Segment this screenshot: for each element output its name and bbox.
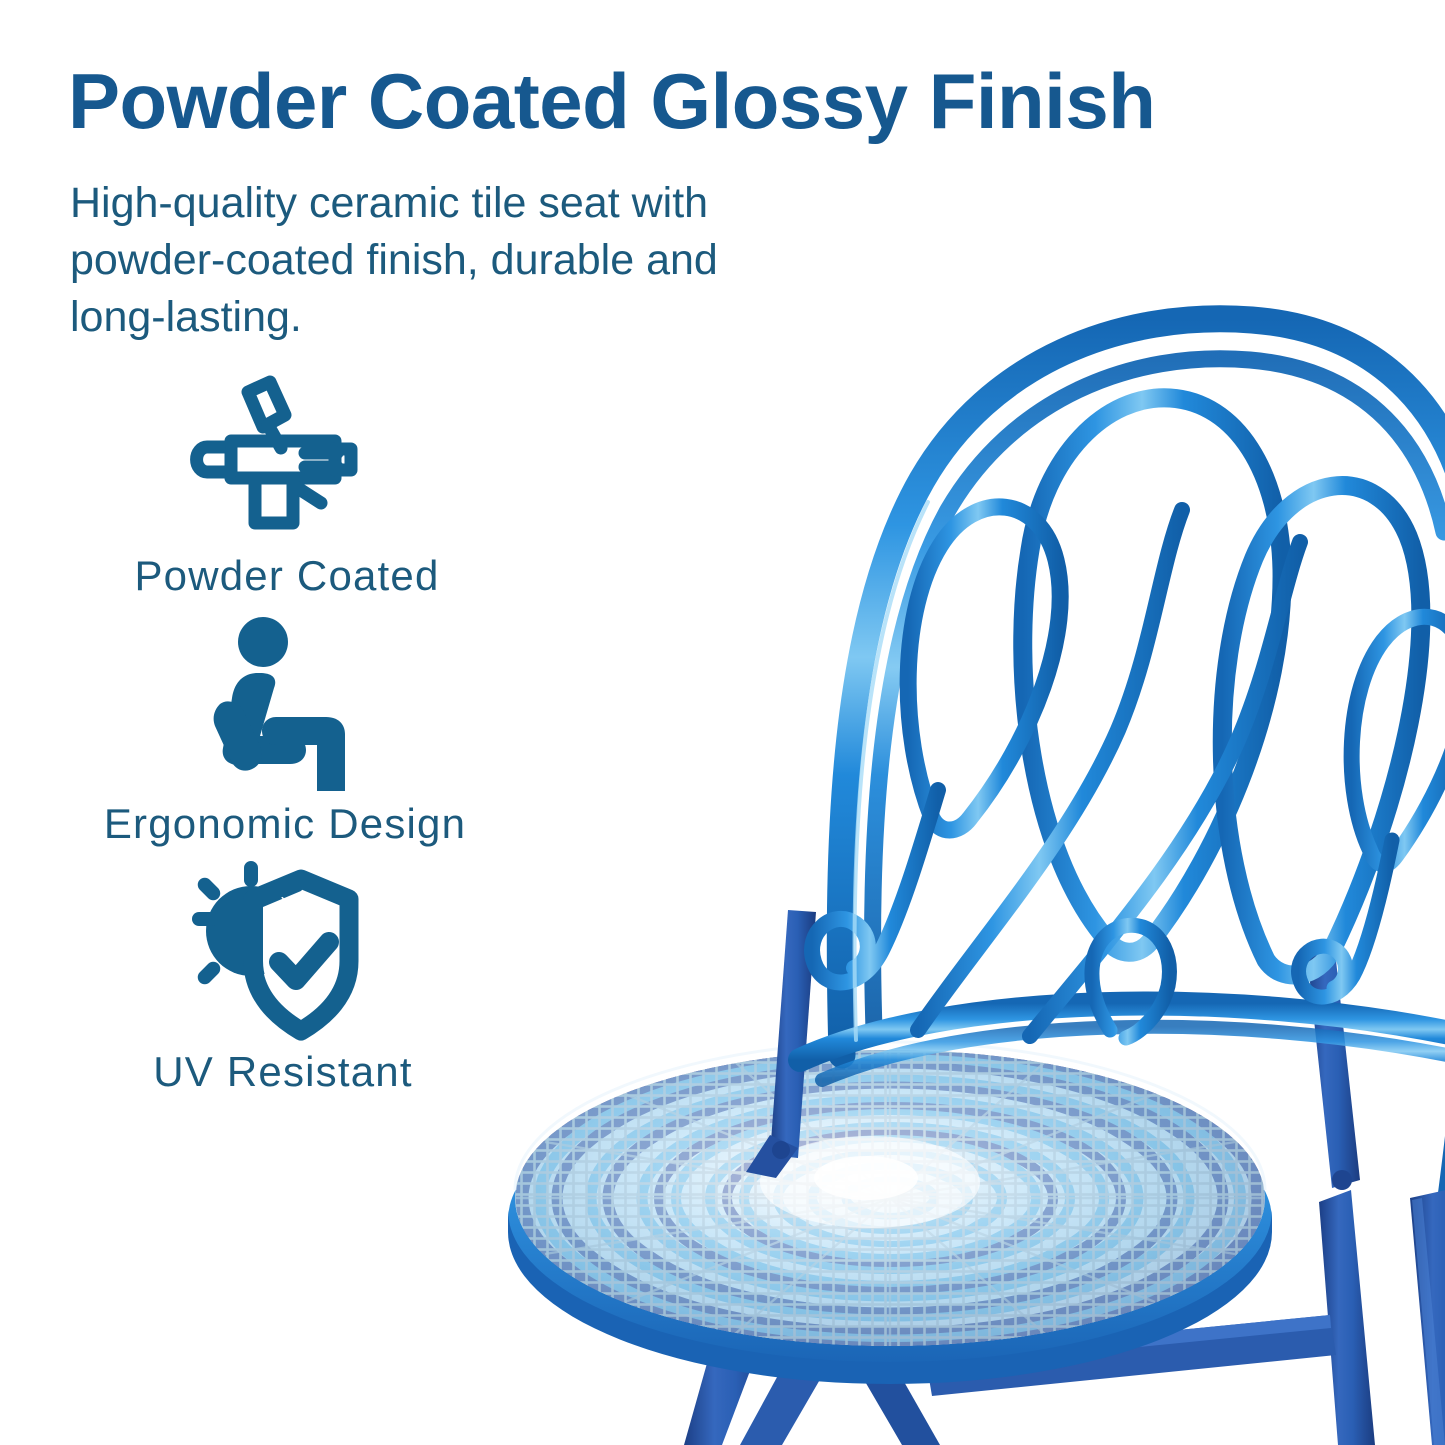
infographic-page: Powder Coated Glossy Finish High-quality… — [0, 0, 1445, 1445]
chair-seat — [508, 1042, 1272, 1384]
page-title: Powder Coated Glossy Finish — [68, 62, 1248, 142]
chair-front-leg — [1410, 1190, 1445, 1445]
product-image-folding-bistro-chair — [470, 150, 1445, 1445]
